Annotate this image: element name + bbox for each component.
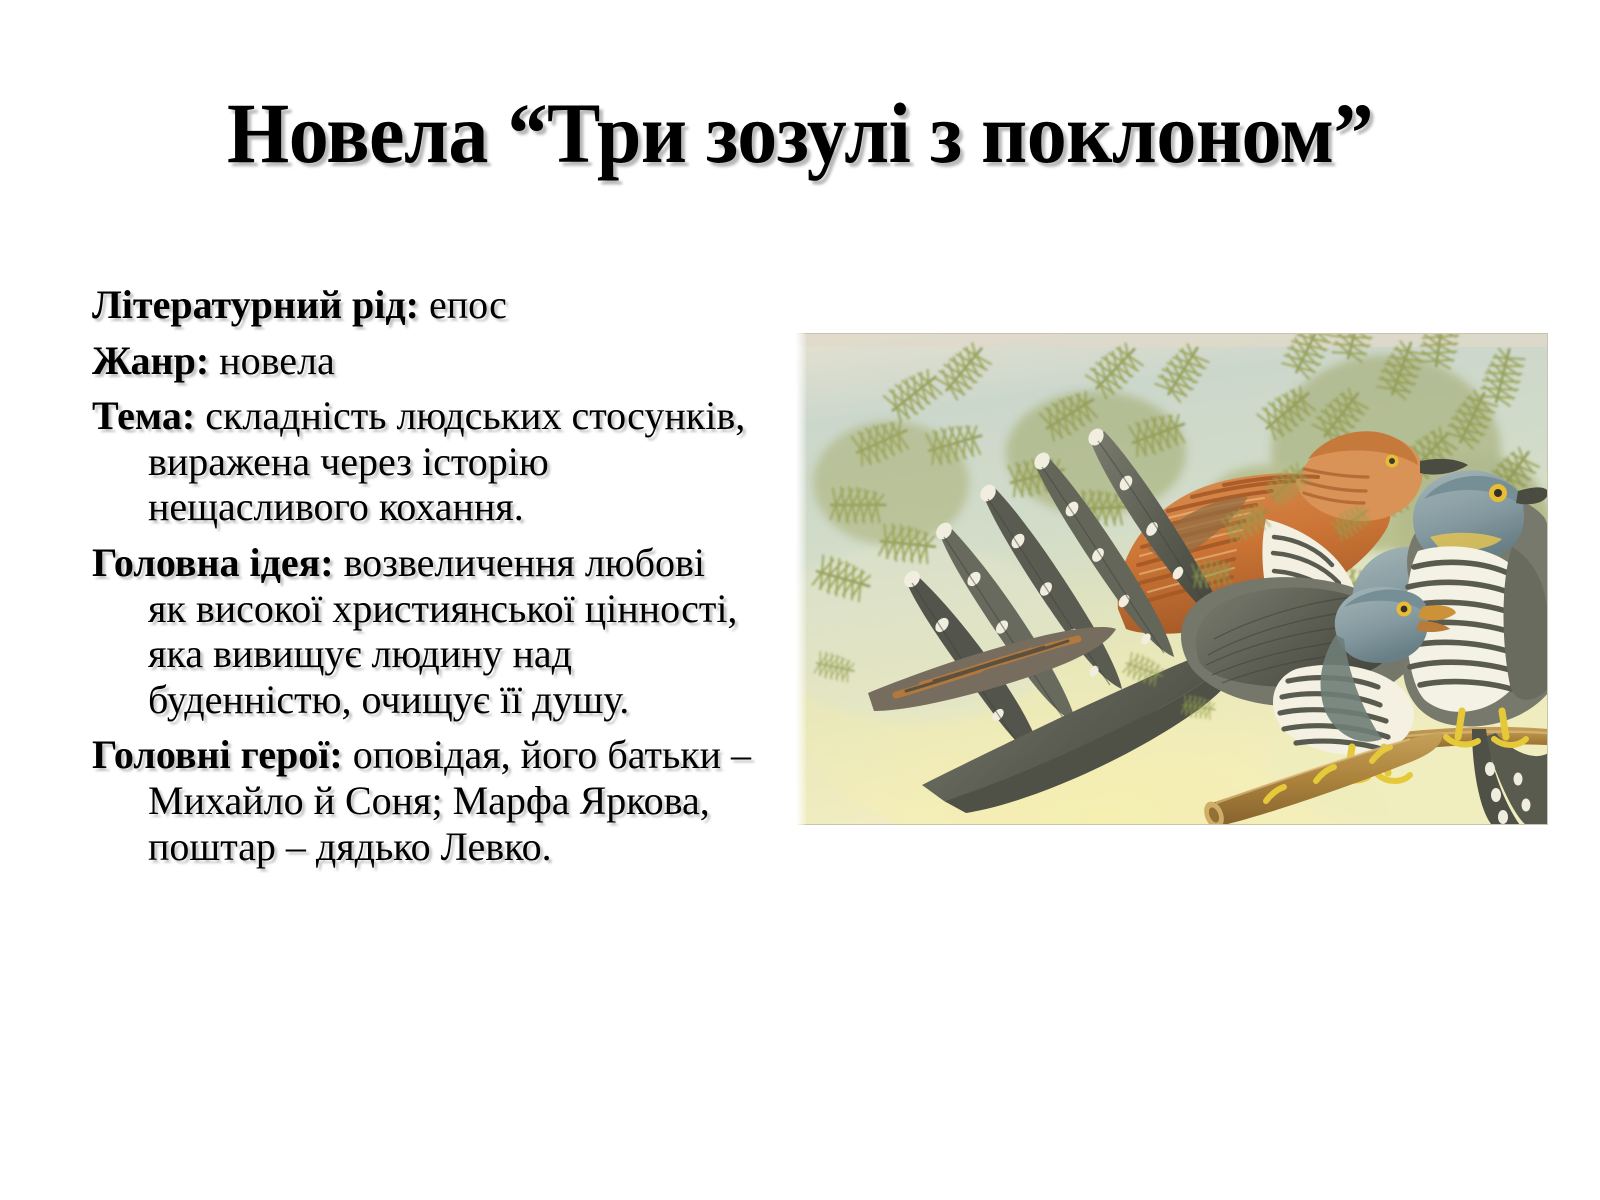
entry-label: Жанр: bbox=[92, 338, 209, 383]
three-cuckoos-illustration bbox=[796, 333, 1548, 825]
page-title: Новела “Три зозулі з поклоном” bbox=[56, 88, 1544, 178]
info-list: Літературний рід: епос Жанр: новела Тема… bbox=[92, 282, 752, 879]
entry-label: Літературний рід: bbox=[92, 282, 419, 327]
entry-label: Головна ідея: bbox=[92, 540, 334, 585]
cuckoos-artwork bbox=[796, 333, 1548, 825]
entry-label: Головні герої: bbox=[92, 732, 343, 777]
list-item: Головні герої: оповідая, його батьки – М… bbox=[92, 732, 752, 869]
list-item: Літературний рід: епос bbox=[92, 282, 752, 328]
entry-label: Тема: bbox=[92, 393, 195, 438]
slide-root: Новела “Три зозулі з поклоном” Літератур… bbox=[0, 0, 1600, 1200]
entry-value: складність людських стосунків, виражена … bbox=[148, 393, 745, 529]
list-item: Жанр: новела bbox=[92, 338, 752, 384]
entry-value: новела bbox=[209, 338, 335, 383]
list-item: Головна ідея: возвеличення любові як вис… bbox=[92, 540, 752, 722]
list-item: Тема: складність людських стосунків, вир… bbox=[92, 393, 752, 530]
entry-value: епос bbox=[419, 282, 507, 327]
